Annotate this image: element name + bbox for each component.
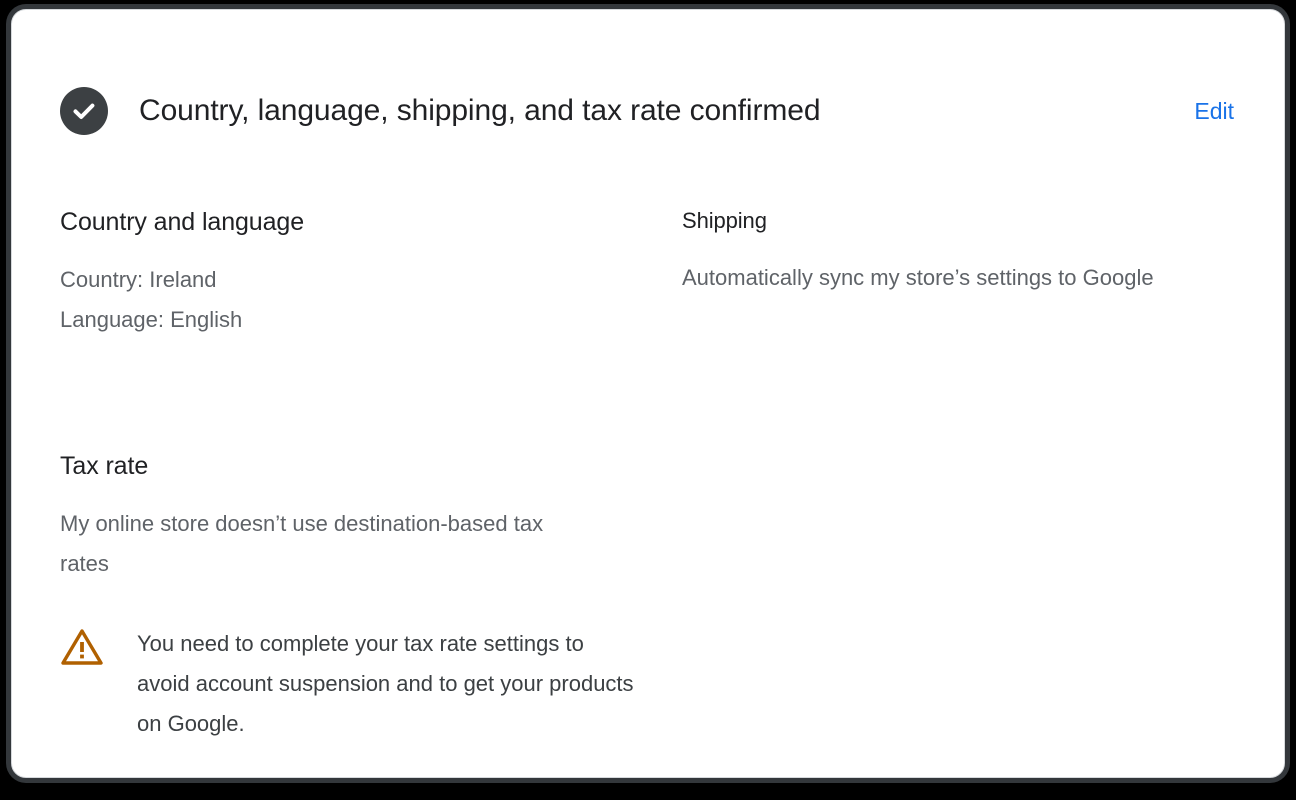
right-column: Shipping Automatically sync my store’s s… <box>682 206 1240 298</box>
tax-rate-section: Tax rate My online store doesn’t use des… <box>60 450 682 744</box>
confirmation-card: Country, language, shipping, and tax rat… <box>11 9 1285 778</box>
tax-rate-heading: Tax rate <box>60 450 682 482</box>
edit-link[interactable]: Edit <box>1194 89 1236 133</box>
language-value: Language: English <box>60 300 682 340</box>
tax-rate-value: My online store doesn’t use destination-… <box>60 504 595 584</box>
shipping-heading: Shipping <box>682 206 1240 236</box>
country-language-heading: Country and language <box>60 206 682 238</box>
warning-triangle-icon <box>60 627 104 667</box>
country-value: Country: Ireland <box>60 260 682 300</box>
shipping-section: Shipping Automatically sync my store’s s… <box>682 206 1240 298</box>
country-language-section: Country and language Country: Ireland La… <box>60 206 682 340</box>
columns-container: Country and language Country: Ireland La… <box>60 206 1240 744</box>
page-background: Country, language, shipping, and tax rat… <box>0 0 1296 800</box>
page-title: Country, language, shipping, and tax rat… <box>139 89 1170 133</box>
card-body: Country and language Country: Ireland La… <box>60 206 1240 744</box>
card-header: Country, language, shipping, and tax rat… <box>12 10 1284 160</box>
check-circle-icon <box>60 87 108 135</box>
shipping-value: Automatically sync my store’s settings t… <box>682 258 1227 298</box>
tax-rate-warning: You need to complete your tax rate setti… <box>60 624 682 744</box>
country-language-values: Country: Ireland Language: English <box>60 260 682 340</box>
tax-rate-warning-text: You need to complete your tax rate setti… <box>137 624 637 744</box>
left-column: Country and language Country: Ireland La… <box>60 206 682 744</box>
